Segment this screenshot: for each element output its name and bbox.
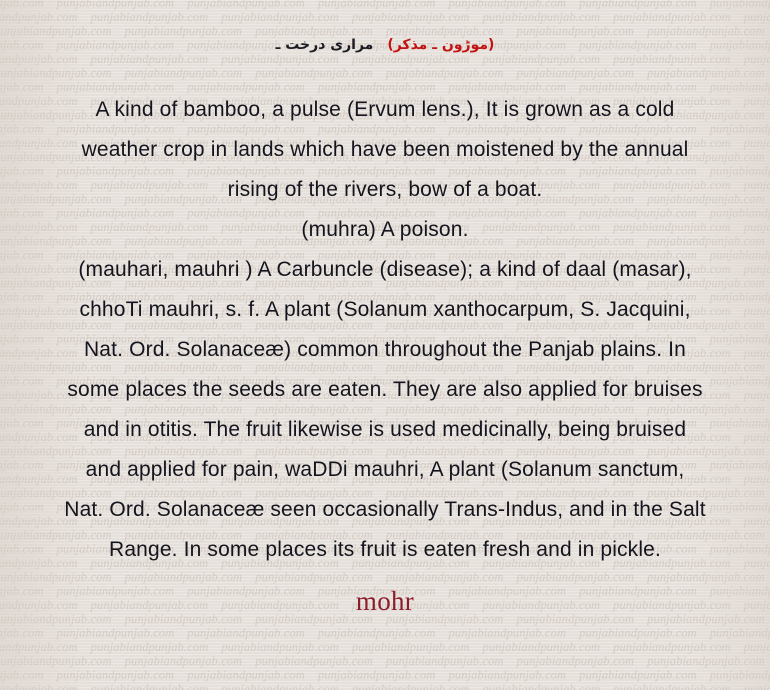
definition-line: some places the seeds are eaten. They ar… [20, 370, 750, 410]
definition-line: and in otitis. The fruit likewise is use… [20, 410, 750, 450]
watermark-row: punjabiandpunjab.compunjabiandpunjab.com… [0, 0, 770, 10]
headword-transliteration-urdu: (موڑون ـ مذکر) [387, 37, 494, 53]
headword-line: (موڑون ـ مذکر)مراری درخت ـ [12, 20, 758, 72]
definition-text-block: A kind of bamboo, a pulse (Ervum lens.),… [12, 90, 758, 570]
headword-gloss-urdu: مراری درخت ـ [276, 37, 374, 53]
entry-footer-romanization: mohr [12, 584, 758, 618]
definition-line: (muhra) A poison. [20, 210, 750, 250]
definition-line: (mauhari, mauhri ) A Carbuncle (disease)… [20, 250, 750, 290]
definition-line: Range. In some places its fruit is eaten… [20, 530, 750, 570]
watermark-text: punjabiandpunjab.com [579, 0, 697, 10]
definition-line: weather crop in lands which have been mo… [20, 130, 750, 170]
watermark-text: punjabiandpunjab.com [57, 0, 175, 10]
watermark-text: punjabiandpunjab.com [0, 0, 44, 10]
entry-content: (موڑون ـ مذکر)مراری درخت ـ A kind of bam… [0, 20, 770, 690]
watermark-text: punjabiandpunjab.com [710, 0, 770, 10]
watermark-text: punjabiandpunjab.com [187, 0, 305, 10]
definition-line: chhoTi mauhri, s. f. A plant (Solanum xa… [20, 290, 750, 330]
watermark-text: punjabiandpunjab.com [318, 0, 436, 10]
definition-line: and applied for pain, waDDi mauhri, A pl… [20, 450, 750, 490]
definition-line: rising of the rivers, bow of a boat. [20, 170, 750, 210]
definition-line: Nat. Ord. Solanaceæ) common throughout t… [20, 330, 750, 370]
definition-line: A kind of bamboo, a pulse (Ervum lens.),… [20, 90, 750, 130]
definition-line: Nat. Ord. Solanaceæ seen occasionally Tr… [20, 490, 750, 530]
watermark-text: punjabiandpunjab.com [449, 0, 567, 10]
dictionary-entry-page: punjabiandpunjab.compunjabiandpunjab.com… [0, 0, 770, 690]
